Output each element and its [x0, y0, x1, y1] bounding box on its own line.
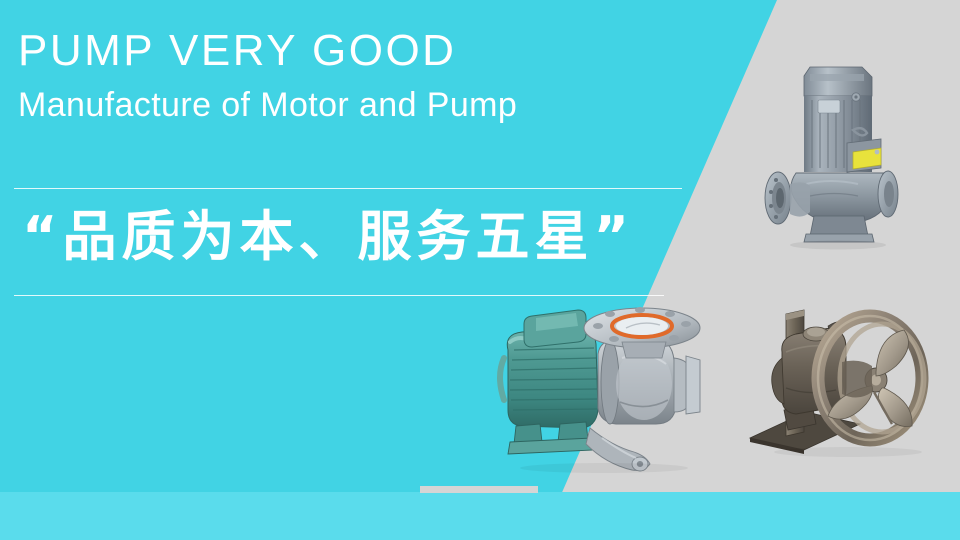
product-image-horizontal-motor-pump: [494, 302, 732, 474]
page-subtitle: Manufacture of Motor and Pump: [18, 80, 738, 130]
slide-progress-indicator[interactable]: [420, 486, 538, 493]
product-image-vertical-inline-pipeline-pump: [752, 44, 948, 256]
banner-slide: PUMP VERY GOOD Manufacture of Motor and …: [0, 0, 960, 540]
divider-top: [14, 188, 682, 189]
background-bottom-band: [0, 492, 960, 540]
page-title: PUMP VERY GOOD: [18, 22, 738, 80]
headline-block: PUMP VERY GOOD Manufacture of Motor and …: [18, 22, 738, 130]
divider-bottom: [14, 295, 664, 296]
slogan-text: “品质为本、服务五星”: [22, 196, 722, 278]
product-image-submersible-mixer-agitator: [742, 292, 938, 462]
